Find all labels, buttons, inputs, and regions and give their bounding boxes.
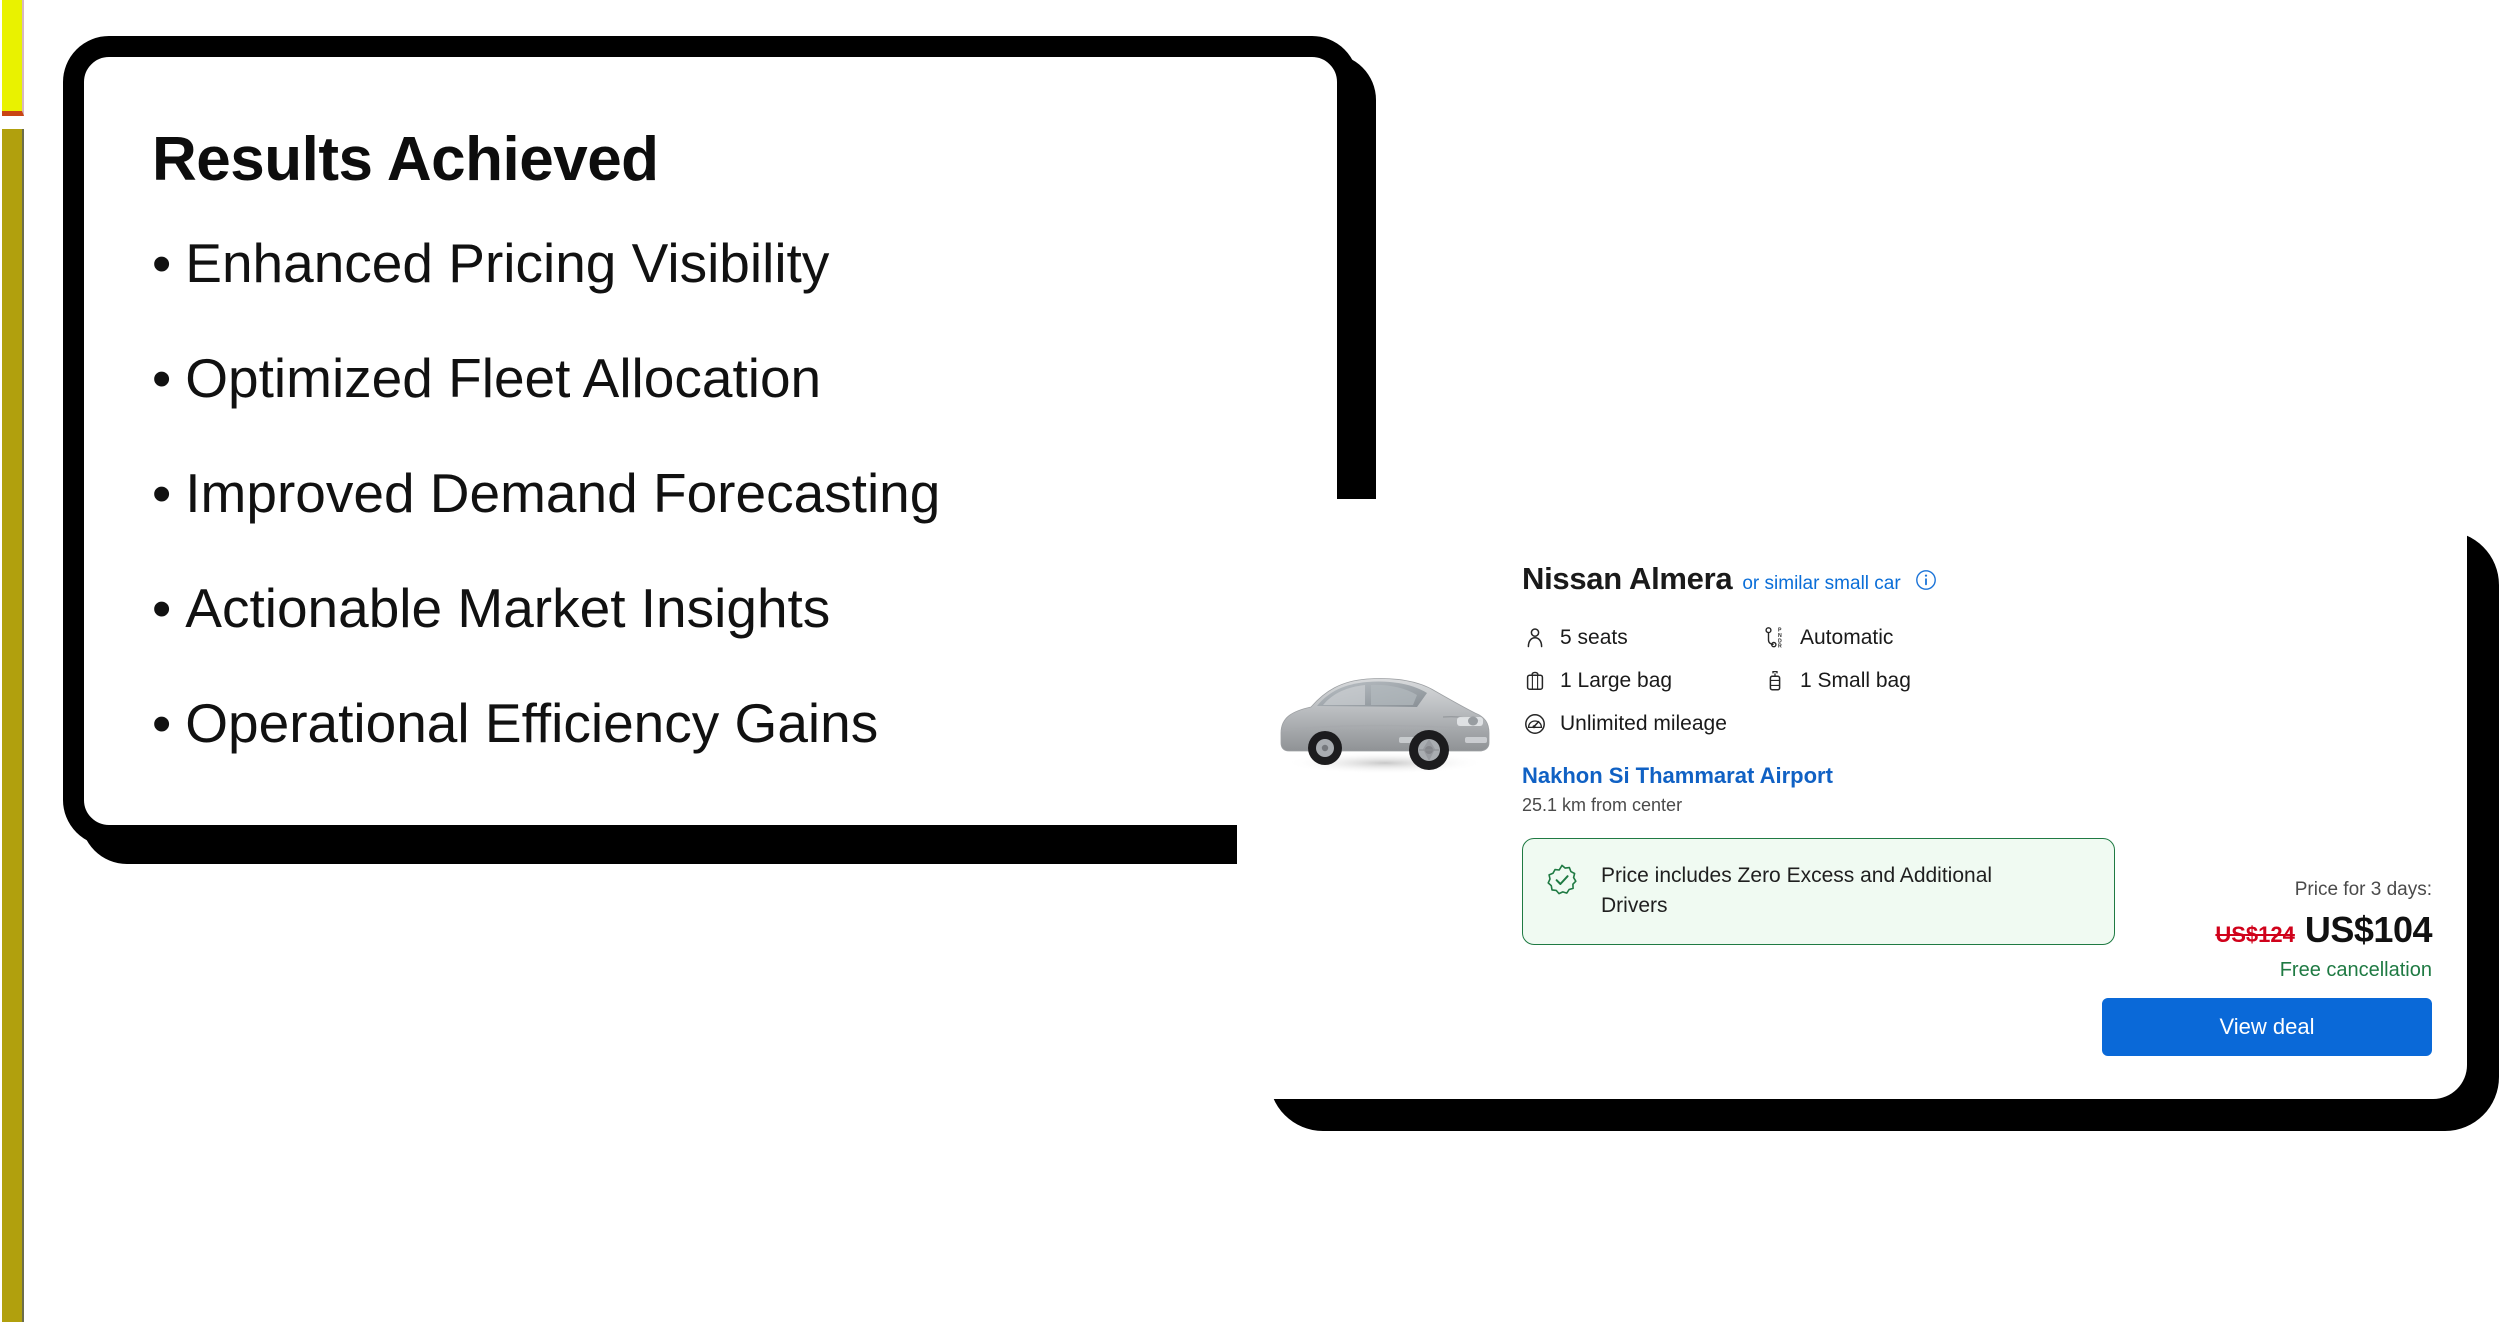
- promo-zero-excess-box: Price includes Zero Excess and Additiona…: [1522, 838, 2115, 945]
- price-original-struck: US$124: [2215, 922, 2295, 948]
- free-cancellation-label: Free cancellation: [2102, 959, 2432, 982]
- results-bullet-label: Actionable Market Insights: [185, 577, 830, 639]
- odometer-icon: [1522, 711, 1548, 737]
- bullet-dot-icon: •: [152, 236, 171, 291]
- bullet-dot-icon: •: [152, 466, 171, 521]
- results-bullet-label: Optimized Fleet Allocation: [185, 347, 821, 409]
- results-panel-title: Results Achieved: [152, 127, 1277, 192]
- car-spec-transmission: P N D R Automatic: [1762, 625, 2452, 651]
- car-title-row: Nissan Almera or similar small car: [1522, 561, 2452, 597]
- car-spec-mileage-label: Unlimited mileage: [1560, 712, 1727, 736]
- results-bullet-label: Enhanced Pricing Visibility: [185, 232, 829, 294]
- info-circle-icon[interactable]: [1915, 569, 1937, 591]
- price-duration-label: Price for 3 days:: [2102, 879, 2432, 901]
- decor-yellow-block: [2, 0, 24, 116]
- svg-text:R: R: [1778, 644, 1782, 650]
- results-bullet-item: •Operational Efficiency Gains: [152, 696, 1277, 751]
- car-deal-card: Nissan Almera or similar small car: [1237, 499, 2467, 1099]
- car-spec-grid: 5 seats P N D R: [1522, 625, 2452, 737]
- car-model-name: Nissan Almera: [1522, 561, 1732, 597]
- car-spec-mileage: Unlimited mileage: [1522, 711, 1762, 737]
- car-similar-class-label: or similar small car: [1742, 573, 1900, 595]
- results-bullet-label: Operational Efficiency Gains: [185, 692, 878, 754]
- results-bullet-item: •Enhanced Pricing Visibility: [152, 236, 1277, 291]
- bullet-dot-icon: •: [152, 351, 171, 406]
- large-bag-icon: [1522, 668, 1548, 694]
- view-deal-button[interactable]: View deal: [2102, 998, 2432, 1056]
- results-achieved-panel: Results Achieved •Enhanced Pricing Visib…: [63, 36, 1358, 846]
- car-location-distance: 25.1 km from center: [1522, 795, 2452, 816]
- car-photo: [1267, 651, 1497, 781]
- car-spec-seats-label: 5 seats: [1560, 626, 1628, 650]
- promo-text: Price includes Zero Excess and Additiona…: [1601, 861, 2041, 922]
- results-panel-body: Results Achieved •Enhanced Pricing Visib…: [84, 57, 1337, 825]
- decor-olive-strip: [2, 129, 24, 1322]
- price-row: US$124 US$104: [2102, 909, 2432, 951]
- gear-shifter-icon: P N D R: [1762, 625, 1788, 651]
- car-spec-small-bag: 1 Small bag: [1762, 668, 2452, 694]
- results-panel-frame: Results Achieved •Enhanced Pricing Visib…: [63, 36, 1358, 846]
- results-bullet-label: Improved Demand Forecasting: [185, 462, 940, 524]
- car-spec-large-bag: 1 Large bag: [1522, 668, 1762, 694]
- results-bullet-item: •Improved Demand Forecasting: [152, 466, 1277, 521]
- car-spec-transmission-label: Automatic: [1800, 626, 1893, 650]
- bullet-dot-icon: •: [152, 581, 171, 636]
- person-seat-icon: [1522, 625, 1548, 651]
- bullet-dot-icon: •: [152, 696, 171, 751]
- results-bullet-item: •Actionable Market Insights: [152, 581, 1277, 636]
- price-current: US$104: [2305, 909, 2432, 951]
- car-card-surface: Nissan Almera or similar small car: [1237, 499, 2467, 1099]
- car-pickup-location-link[interactable]: Nakhon Si Thammarat Airport: [1522, 763, 2452, 789]
- price-block: Price for 3 days: US$124 US$104 Free can…: [2102, 879, 2432, 1056]
- car-spec-large-bag-label: 1 Large bag: [1560, 669, 1672, 693]
- green-check-badge-icon: [1545, 863, 1579, 902]
- results-bullet-item: •Optimized Fleet Allocation: [152, 351, 1277, 406]
- small-bag-icon: [1762, 668, 1788, 694]
- car-spec-seats: 5 seats: [1522, 625, 1762, 651]
- car-spec-small-bag-label: 1 Small bag: [1800, 669, 1911, 693]
